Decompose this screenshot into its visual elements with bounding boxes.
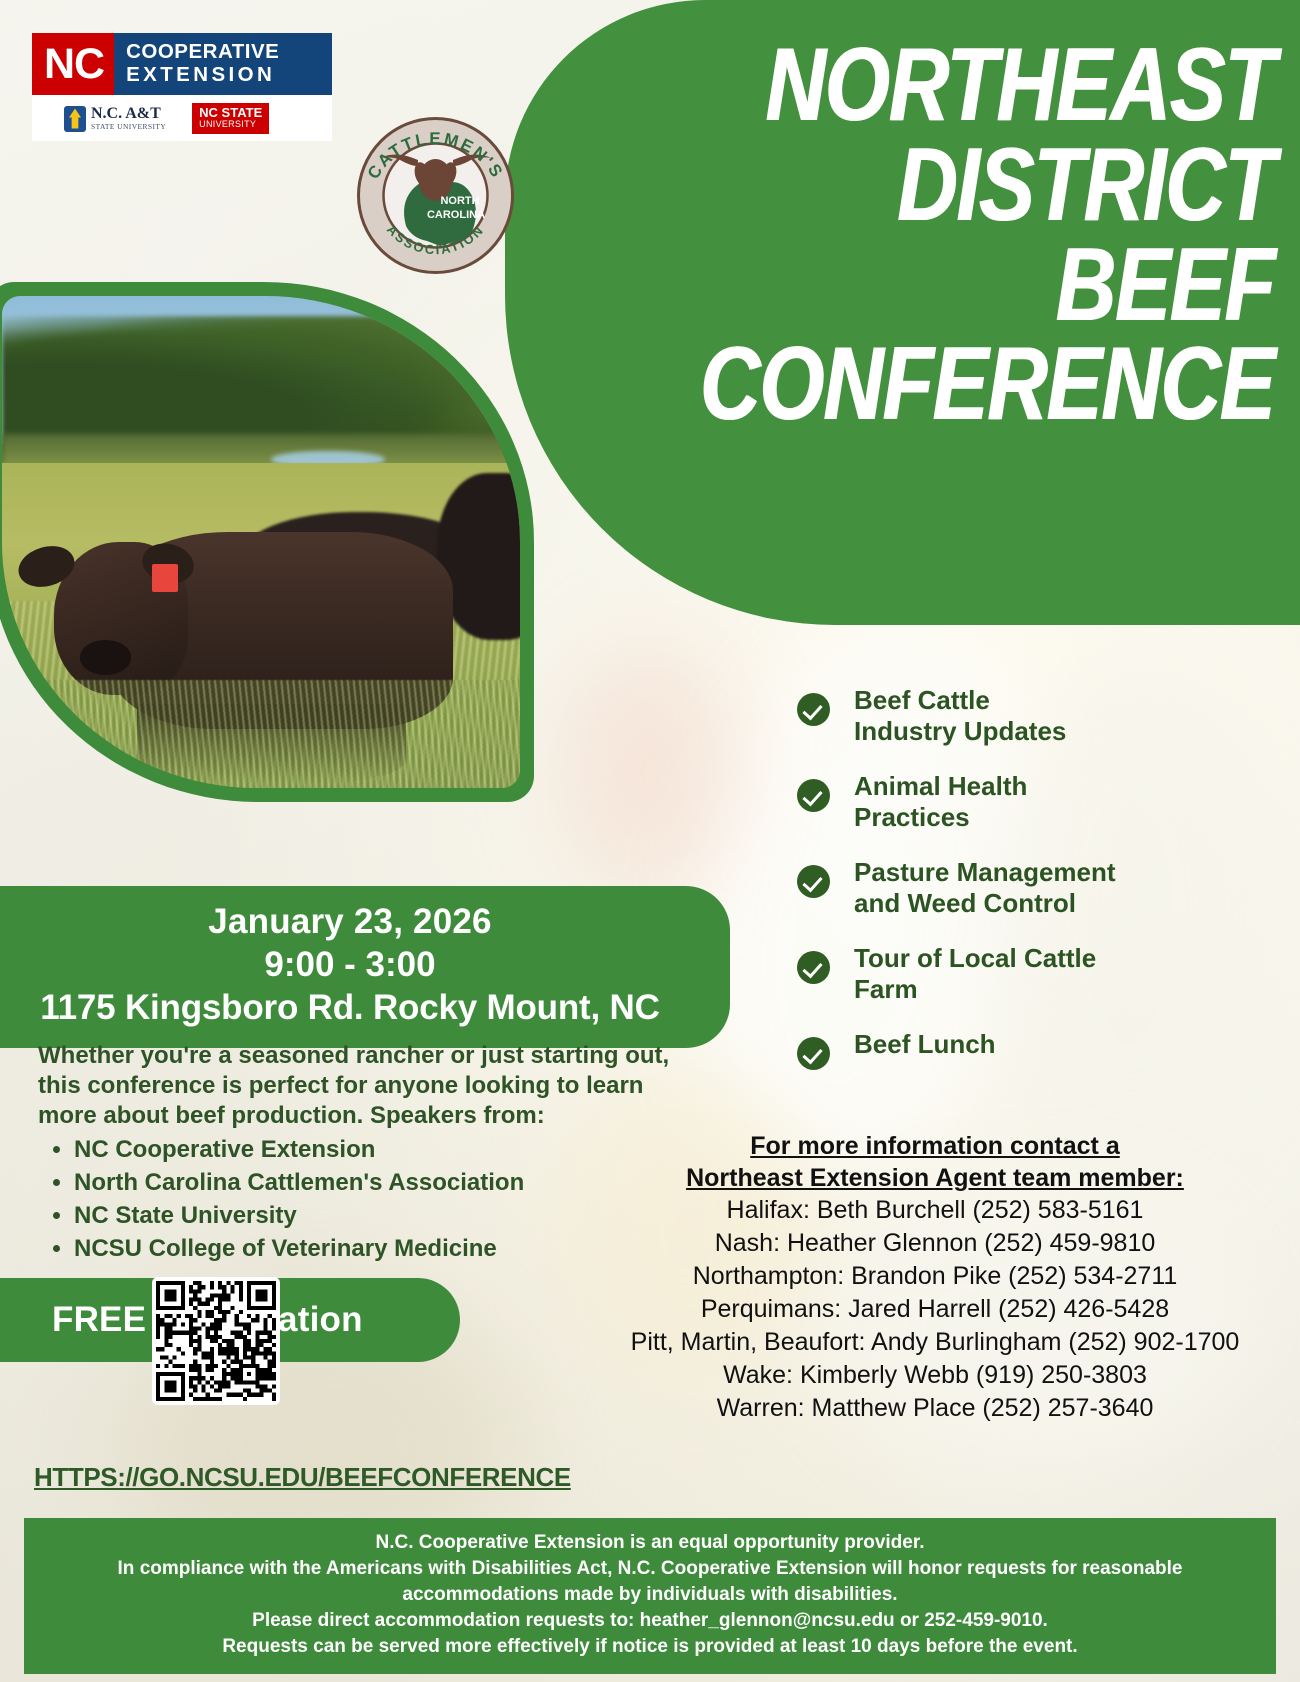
check-circle-icon bbox=[797, 865, 830, 898]
title-line-2: DISTRICT bbox=[682, 136, 1274, 236]
event-date: January 23, 2026 bbox=[0, 900, 708, 943]
disclaimer-line: Please direct accommodation requests to:… bbox=[44, 1608, 1256, 1634]
agenda-feature-list: Beef CattleIndustry Updates Animal Healt… bbox=[797, 685, 1277, 1094]
photo-cow-ear-tag bbox=[152, 564, 178, 592]
registration-url-link[interactable]: HTTPS://GO.NCSU.EDU/BEEFCONFERENCE bbox=[34, 1462, 571, 1493]
contact-agent: Warren: Matthew Place (252) 257-3640 bbox=[575, 1392, 1295, 1425]
check-circle-icon bbox=[797, 693, 830, 726]
contact-block: For more information contact a Northeast… bbox=[575, 1130, 1295, 1425]
logo-partners: N.C. A&T STATE UNIVERSITY NC STATE UNIVE… bbox=[32, 95, 332, 141]
contact-agent: Northampton: Brandon Pike (252) 534-2711 bbox=[575, 1260, 1295, 1293]
flyer-page: NORTHEAST DISTRICT BEEF CONFERENCE NC CO… bbox=[0, 0, 1300, 1682]
nc-state-logo: NC STATE UNIVERSITY bbox=[192, 103, 269, 134]
qr-code[interactable] bbox=[152, 1277, 280, 1405]
feature-label: Beef CattleIndustry Updates bbox=[854, 685, 1066, 747]
contact-agent: Pitt, Martin, Beaufort: Andy Burlingham … bbox=[575, 1326, 1295, 1359]
contact-agent: Wake: Kimberly Webb (919) 250-3803 bbox=[575, 1359, 1295, 1392]
contact-agent: Perquimans: Jared Harrell (252) 426-5428 bbox=[575, 1293, 1295, 1326]
nc-at-logo: N.C. A&T STATE UNIVERSITY bbox=[64, 106, 166, 132]
event-time: 9:00 - 3:00 bbox=[0, 943, 708, 986]
check-circle-icon bbox=[797, 951, 830, 984]
feature-label: Pasture Managementand Weed Control bbox=[854, 857, 1116, 919]
logo-extension-text: EXTENSION bbox=[126, 63, 322, 86]
logo-wordmark: COOPERATIVE EXTENSION bbox=[114, 33, 332, 95]
nc-state-line2: UNIVERSITY bbox=[199, 119, 262, 130]
feature-label: Tour of Local CattleFarm bbox=[854, 943, 1096, 1005]
nc-state-line1: NC STATE bbox=[199, 106, 262, 119]
check-circle-icon bbox=[797, 779, 830, 812]
logo-cooperative-text: COOPERATIVE bbox=[126, 40, 322, 63]
title-line-4: CONFERENCE bbox=[682, 335, 1274, 435]
feature-label: Animal HealthPractices bbox=[854, 771, 1027, 833]
background-blob bbox=[560, 640, 740, 900]
logo-nc-text: NC bbox=[32, 33, 114, 95]
title-line-1: NORTHEAST bbox=[682, 36, 1274, 136]
list-item: Tour of Local CattleFarm bbox=[797, 943, 1277, 1005]
check-circle-icon bbox=[797, 1037, 830, 1070]
feature-label: Beef Lunch bbox=[854, 1029, 996, 1060]
event-address: 1175 Kingsboro Rd. Rocky Mount, NC bbox=[0, 986, 708, 1030]
contact-agent: Nash: Heather Glennon (252) 459-9810 bbox=[575, 1227, 1295, 1260]
logo-bar: NC COOPERATIVE EXTENSION bbox=[32, 33, 332, 95]
aggie-shield-icon bbox=[64, 106, 86, 132]
list-item: Beef CattleIndustry Updates bbox=[797, 685, 1277, 747]
seal-state-line2: CAROLINA bbox=[427, 209, 485, 221]
disclaimer-line: Requests can be served more effectively … bbox=[44, 1634, 1256, 1660]
nc-at-wordmark: N.C. A&T STATE UNIVERSITY bbox=[91, 106, 166, 131]
disclaimer-line: In compliance with the Americans with Di… bbox=[44, 1556, 1256, 1608]
photo-cow-muzzle bbox=[80, 640, 132, 674]
list-item: Beef Lunch bbox=[797, 1029, 1277, 1070]
contact-agent: Halifax: Beth Burchell (252) 583-5161 bbox=[575, 1194, 1295, 1227]
description-paragraph: Whether you're a seasoned rancher or jus… bbox=[38, 1041, 678, 1131]
accessibility-disclaimer: N.C. Cooperative Extension is an equal o… bbox=[24, 1518, 1276, 1674]
cattle-photo bbox=[2, 296, 520, 788]
list-item: Animal HealthPractices bbox=[797, 771, 1277, 833]
seal-state-line1: NORTH bbox=[440, 195, 479, 207]
page-title: NORTHEAST DISTRICT BEEF CONFERENCE bbox=[534, 36, 1274, 435]
nc-at-line2: STATE UNIVERSITY bbox=[91, 122, 166, 131]
contact-heading-line1: For more information contact a bbox=[575, 1130, 1295, 1162]
event-details-banner: January 23, 2026 9:00 - 3:00 1175 Kingsb… bbox=[0, 886, 730, 1048]
list-item: Pasture Managementand Weed Control bbox=[797, 857, 1277, 919]
nc-at-line1: N.C. A&T bbox=[91, 106, 166, 122]
disclaimer-line: N.C. Cooperative Extension is an equal o… bbox=[44, 1530, 1256, 1556]
contact-heading-line2: Northeast Extension Agent team member: bbox=[575, 1162, 1295, 1194]
cattle-photo-frame bbox=[0, 282, 534, 802]
title-line-3: BEEF bbox=[682, 236, 1274, 336]
nc-cooperative-extension-logo: NC COOPERATIVE EXTENSION N.C. A&T STATE … bbox=[32, 33, 332, 141]
nc-cattlemens-association-seal: CATTLEMEN'S ASSOCIATION NORTH CAROLINA bbox=[348, 108, 523, 283]
photo-foreground-grass bbox=[2, 680, 520, 788]
